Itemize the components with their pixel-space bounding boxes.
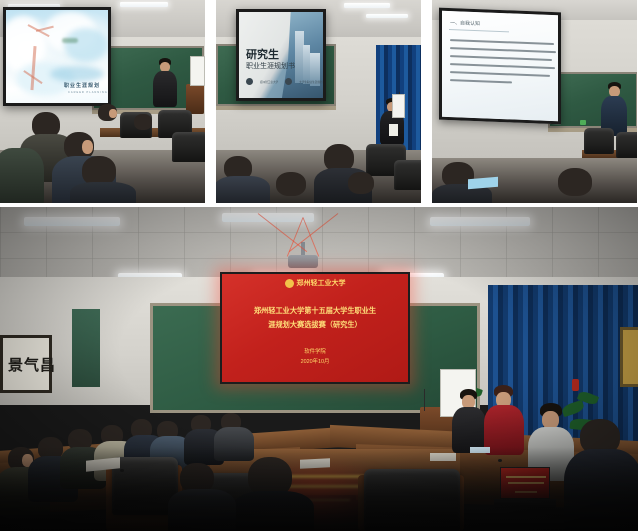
banner-title-line-1: 郑州轻工业大学第十五届大学生职业生	[254, 304, 376, 318]
photo-collage: 职业生涯规划 CAREER PLANNING	[0, 0, 638, 531]
photo-panel-3: 一、自我认知	[432, 0, 637, 203]
heading-rule	[449, 29, 509, 32]
audience-head	[348, 172, 374, 194]
ceiling-light-icon	[344, 3, 390, 8]
slide-3-body-line	[450, 71, 550, 77]
slide-2-logo-row: 郑州轻工业大学 大学生职业生涯规划	[246, 78, 323, 85]
projector-icon	[288, 255, 318, 268]
event-banner: 郑州轻工业大学 郑州轻工业大学第十五届大学生职业生 涯规划大赛选拔赛（研究生） …	[220, 272, 410, 384]
ceiling-light-icon	[24, 217, 120, 226]
watercolour-water	[50, 66, 104, 82]
watercolour-blob	[64, 28, 108, 62]
chalk-ledge	[216, 106, 336, 110]
classroom-scene-2: 研究生 职业生涯规划书 郑州轻工业大学 大学生职业生涯规划	[216, 0, 421, 203]
top-photo-row: 职业生涯规划 CAREER PLANNING	[0, 0, 638, 203]
audience-member	[270, 172, 318, 203]
watercolour-trees	[62, 38, 78, 43]
classroom-scene-3: 一、自我认知	[432, 0, 637, 203]
audience-head	[276, 172, 306, 196]
program-seal-icon	[285, 78, 292, 85]
wall-calligraphy-frame: 景气昌	[0, 335, 52, 393]
audience-member	[552, 168, 606, 203]
ceiling-light-icon	[366, 14, 408, 18]
city-skyline-photo	[279, 12, 323, 98]
main-conference-photo: 郑州轻工业大学 郑州轻工业大学第十五届大学生职业生 涯规划大赛选拔赛（研究生） …	[0, 207, 638, 531]
banner-university-name: 郑州轻工业大学	[297, 278, 346, 288]
projection-screen-3: 一、自我认知	[439, 8, 561, 125]
calligraphy-text: 景气昌	[8, 354, 56, 375]
slide-2-city: 研究生 职业生涯规划书 郑州轻工业大学 大学生职业生涯规划	[239, 12, 323, 98]
ceiling-light-icon	[120, 2, 168, 7]
audience-member	[0, 140, 40, 203]
audience-face	[82, 140, 93, 154]
slide-3-body-line	[450, 79, 512, 83]
presenter-1	[152, 58, 178, 116]
microphone-stand	[424, 389, 425, 411]
slide-1-subtitle: CAREER PLANNING	[68, 91, 108, 94]
chalk-eraser	[580, 120, 586, 125]
presenter-paper	[389, 124, 398, 136]
audience-member	[344, 172, 384, 203]
audience-head	[134, 114, 152, 130]
banner-footer-line-1: 软件学院	[304, 348, 326, 357]
slide-1-watercolour: 职业生涯规划 CAREER PLANNING	[6, 10, 108, 103]
slide-3-body-line	[450, 55, 552, 61]
audience-member	[220, 156, 264, 203]
banner-title-line-2: 涯规划大赛选拔赛（研究生）	[268, 318, 361, 332]
seat-back	[394, 160, 421, 190]
presenter-torso	[153, 71, 177, 107]
slide-2-subtitle: 职业生涯规划书	[246, 61, 295, 71]
university-seal-icon	[285, 279, 294, 288]
university-seal-icon	[246, 78, 253, 85]
projection-screen-2: 研究生 职业生涯规划书 郑州轻工业大学 大学生职业生涯规划	[236, 9, 326, 101]
audience-torso	[0, 148, 44, 203]
audience-torso	[216, 176, 270, 203]
flipchart-1	[190, 56, 205, 86]
slide-3-document: 一、自我认知	[442, 11, 558, 121]
audience-torso	[70, 182, 136, 203]
slide-3-body-line	[450, 63, 555, 69]
projection-screen-1: 职业生涯规划 CAREER PLANNING	[3, 7, 111, 106]
audience-member	[96, 104, 122, 134]
audience-member	[132, 114, 160, 144]
foreground-shadow	[0, 447, 638, 531]
red-flower	[572, 379, 579, 391]
slide-3-body-line	[450, 47, 556, 53]
classroom-scene-1: 职业生涯规划 CAREER PLANNING	[0, 0, 205, 203]
ceiling-light-icon	[430, 217, 530, 226]
photo-panel-2: 研究生 职业生涯规划书 郑州轻工业大学 大学生职业生涯规划	[216, 0, 421, 203]
banner-logo-row: 郑州轻工业大学	[285, 278, 346, 288]
slide-2-title: 研究生	[246, 46, 279, 62]
seat-back	[172, 132, 205, 162]
seat-back	[584, 128, 614, 154]
slide-2-logo-left-caption: 郑州轻工业大学	[260, 80, 278, 84]
judge-seated	[452, 389, 486, 455]
photo-panel-1: 职业生涯规划 CAREER PLANNING	[0, 0, 205, 203]
audience-member	[74, 156, 132, 203]
audience-face	[109, 109, 117, 118]
audience-head	[558, 168, 592, 196]
wall-frame-right	[620, 327, 638, 387]
slide-1-title: 职业生涯规划	[64, 82, 100, 89]
slide-3-heading: 一、自我认知	[450, 19, 480, 27]
slide-2-logo-right-caption: 大学生职业生涯规划	[299, 80, 322, 84]
flipchart-2	[392, 94, 405, 118]
banner-footer-line-2: 2020年10月	[301, 358, 330, 367]
doorway	[72, 309, 100, 387]
seat-back	[616, 132, 637, 158]
slide-3-body-line	[450, 39, 554, 45]
